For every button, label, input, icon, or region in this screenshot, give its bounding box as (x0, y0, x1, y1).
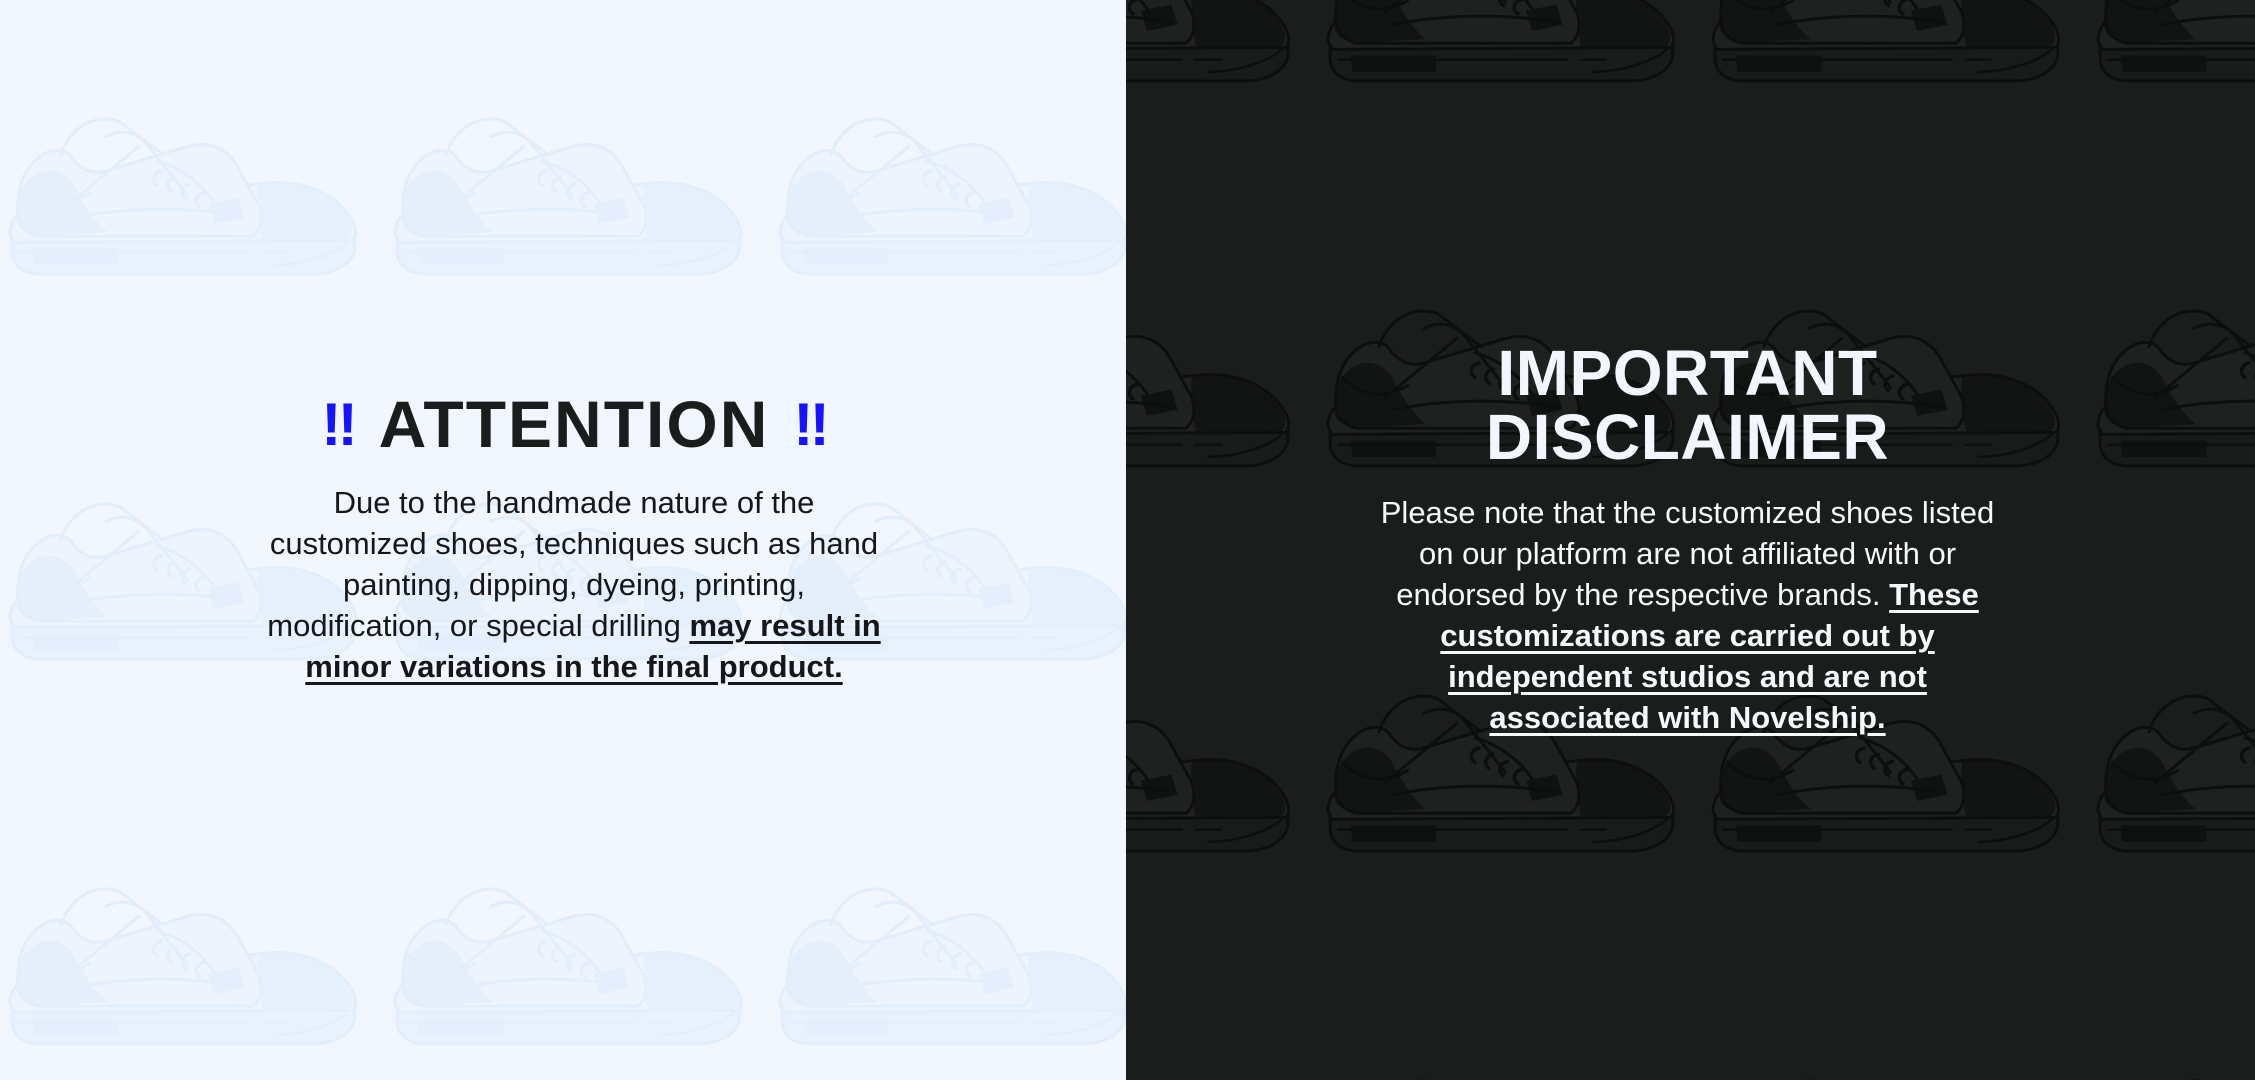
disclaimer-headline-line1: IMPORTANT (1497, 337, 1877, 409)
attention-headline-word: ATTENTION (379, 387, 770, 461)
attention-body-text: Due to the handmade nature of the custom… (264, 483, 884, 688)
attention-panel: ‼ATTENTION‼ Due to the handmade nature o… (0, 0, 1126, 1080)
disclaimer-content: IMPORTANT DISCLAIMER Please note that th… (1126, 341, 2255, 738)
attention-headline: ‼ATTENTION‼ (22, 392, 1126, 457)
double-exclamation-icon-left: ‼ (321, 391, 354, 458)
disclaimer-headline-line2: DISCLAIMER (1486, 401, 1889, 473)
disclaimer-body-text: Please note that the customized shoes li… (1368, 493, 2008, 738)
disclaimer-headline: IMPORTANT DISCLAIMER (1126, 341, 2249, 469)
attention-content: ‼ATTENTION‼ Due to the handmade nature o… (0, 392, 1126, 687)
double-exclamation-icon-right: ‼ (793, 391, 826, 458)
disclaimer-panel: IMPORTANT DISCLAIMER Please note that th… (1126, 0, 2255, 1080)
customization-disclaimer-banner: ‼ATTENTION‼ Due to the handmade nature o… (0, 0, 2255, 1080)
